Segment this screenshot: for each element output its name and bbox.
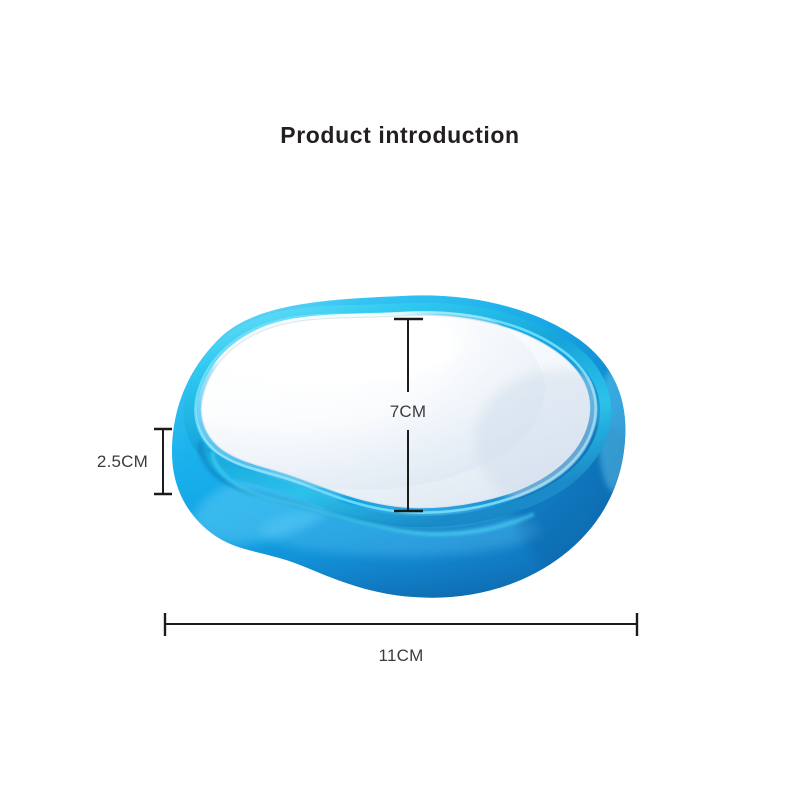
dimension-11cm-label: 11CM	[379, 646, 424, 665]
dimension-11cm: 11CM	[164, 613, 638, 665]
dimension-7cm-label: 7CM	[390, 402, 427, 421]
product-introduction-page: Product introduction	[0, 0, 800, 800]
product-figure: 2.5CM 7CM 11CM	[0, 0, 800, 800]
dimension-2-5cm: 2.5CM	[97, 428, 172, 495]
dimension-2-5cm-label: 2.5CM	[97, 452, 148, 471]
product-body	[150, 280, 660, 620]
